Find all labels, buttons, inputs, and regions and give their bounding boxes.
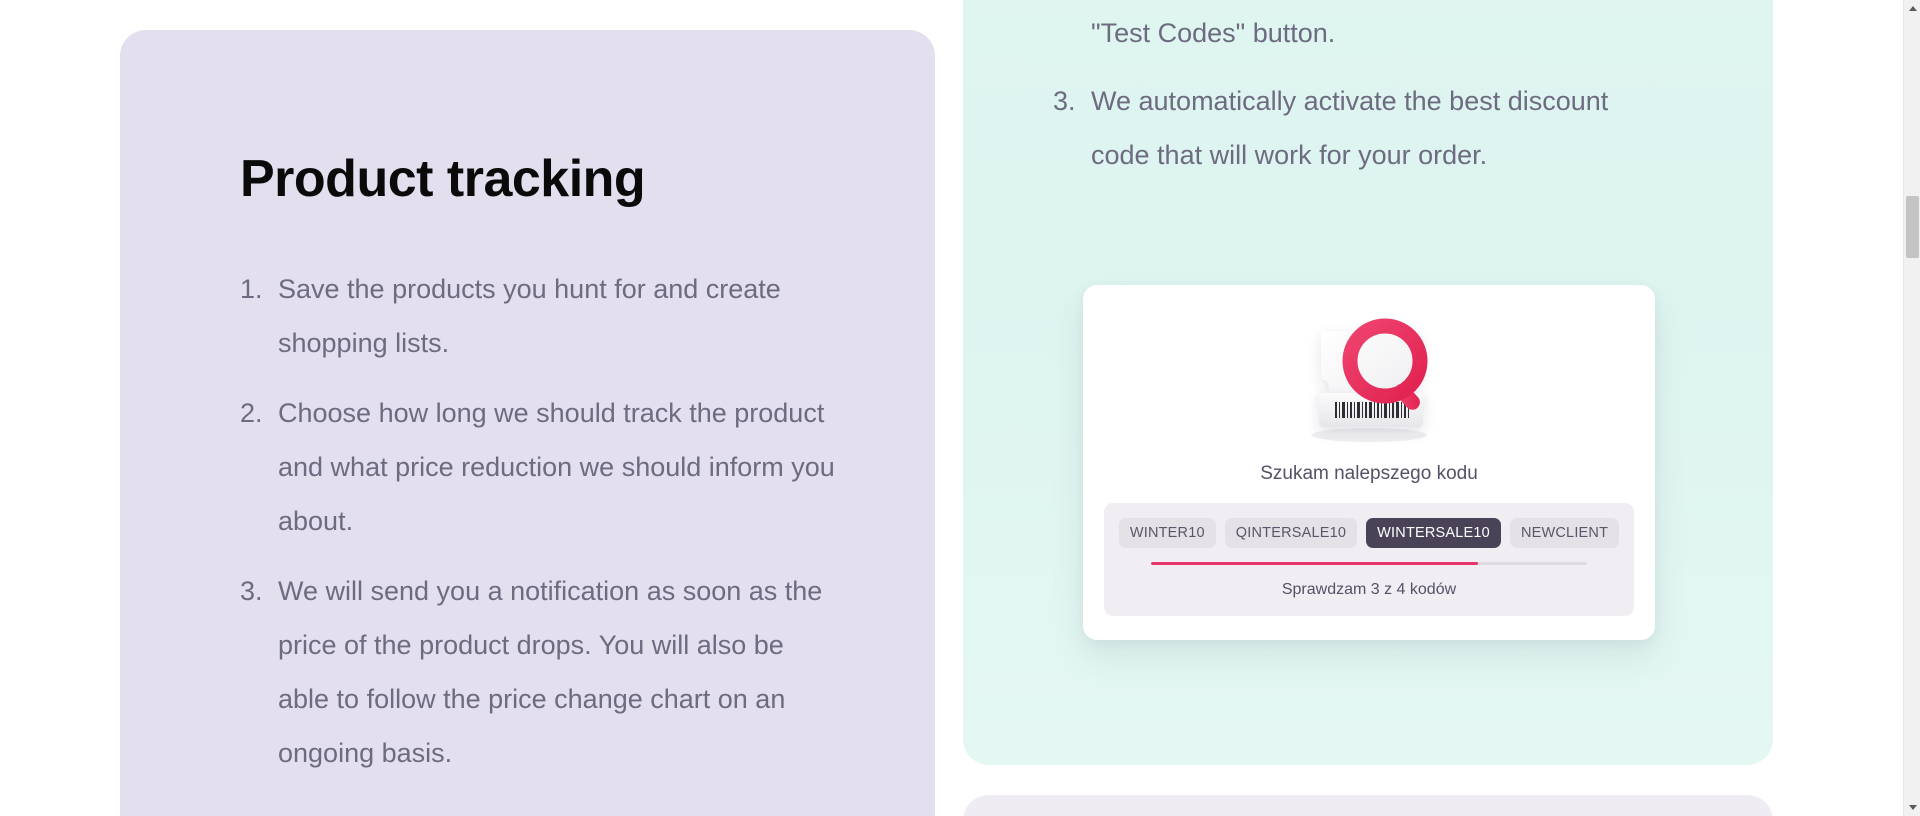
code-pill-row: WINTER10 QINTERSALE10 WINTERSALE10 NEWCL… [1104,503,1634,548]
code-check-progress-bar [1151,562,1587,565]
discount-codes-content: "Test Codes" button. 3. We automatically… [1053,6,1673,198]
code-pill[interactable]: QINTERSALE10 [1225,518,1357,548]
demo-caption: Szukam nalepszego kodu [1083,463,1655,485]
list-item: 3. We automatically activate the best di… [1053,74,1673,182]
list-item: 2. Choose how long we should track the p… [240,386,840,548]
step-number: 2. [240,386,278,548]
product-tracking-card: Product tracking 1. Save the products yo… [120,30,935,816]
step-number: 1. [240,262,278,370]
code-pill[interactable]: NEWCLIENT [1510,518,1619,548]
scroll-up-arrow-icon[interactable] [1904,0,1920,17]
step-text: We will send you a notification as soon … [278,564,840,780]
vertical-scrollbar[interactable] [1903,0,1920,816]
discount-codes-step-list: 3. We automatically activate the best di… [1053,74,1673,182]
scroll-down-arrow-icon[interactable] [1904,799,1920,816]
code-check-status: Sprawdzam 3 z 4 kodów [1104,581,1634,599]
code-testing-demo-panel: Szukam nalepszego kodu WINTER10 QINTERSA… [1083,285,1655,640]
codes-testing-box: WINTER10 QINTERSALE10 WINTERSALE10 NEWCL… [1104,503,1634,616]
list-item: 1. Save the products you hunt for and cr… [240,262,840,370]
page-root: Product tracking 1. Save the products yo… [0,0,1920,816]
continued-text-line: "Test Codes" button. [1053,6,1673,60]
coupon-magnifier-illustration [1269,303,1469,453]
step-text: We automatically activate the best disco… [1091,74,1673,182]
step-text: Save the products you hunt for and creat… [278,262,840,370]
progress-fill [1151,562,1478,565]
code-pill-active[interactable]: WINTERSALE10 [1366,518,1501,548]
list-item: 3. We will send you a notification as so… [240,564,840,780]
step-number: 3. [1053,74,1091,182]
step-number: 3. [240,564,278,780]
product-tracking-content: Product tracking 1. Save the products yo… [240,150,840,796]
product-tracking-step-list: 1. Save the products you hunt for and cr… [240,262,840,780]
code-pill[interactable]: WINTER10 [1119,518,1216,548]
next-section-card [963,795,1773,816]
step-text: Choose how long we should track the prod… [278,386,840,548]
scrollbar-thumb[interactable] [1906,196,1919,258]
page-title: Product tracking [240,150,840,210]
